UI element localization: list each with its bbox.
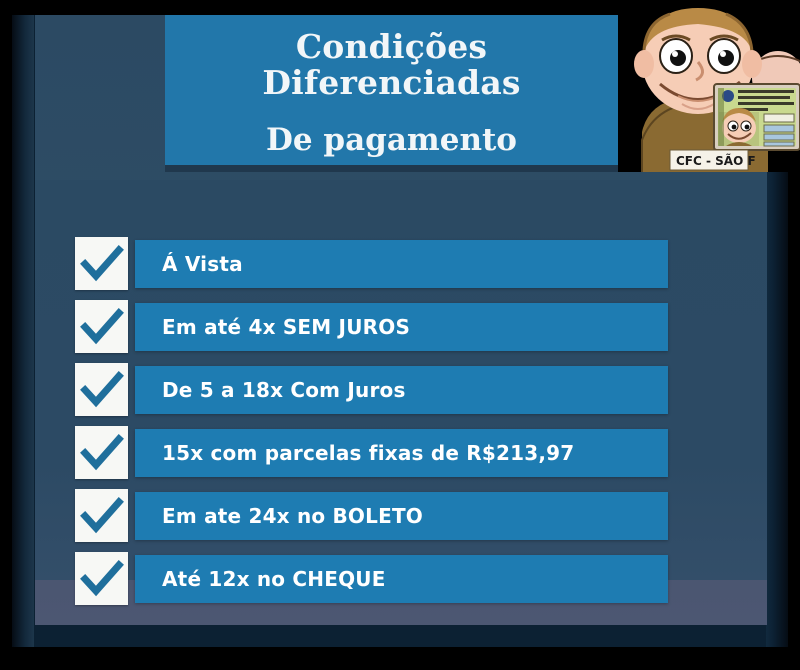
checkbox-checked[interactable] bbox=[75, 300, 128, 353]
checklist: Á Vista Em até 4x SEM JUROS De 5 a 18x C… bbox=[75, 237, 668, 615]
list-item-label: Á Vista bbox=[135, 252, 243, 276]
drivers-license-card bbox=[714, 84, 800, 150]
list-item-bar[interactable]: Em até 4x SEM JUROS bbox=[135, 303, 668, 351]
checkbox-checked[interactable] bbox=[75, 552, 128, 605]
list-item[interactable]: Em até 4x SEM JUROS bbox=[75, 300, 668, 353]
list-item-label: Em ate 24x no BOLETO bbox=[135, 504, 423, 528]
shirt-name-tag: CFC - SÃO F bbox=[670, 150, 756, 170]
license-portrait bbox=[719, 108, 759, 146]
list-item[interactable]: Á Vista bbox=[75, 237, 668, 290]
list-item-bar[interactable]: De 5 a 18x Com Juros bbox=[135, 366, 668, 414]
title-box: Condições Diferenciadas De pagamento bbox=[165, 15, 618, 165]
check-icon bbox=[75, 300, 128, 353]
list-item[interactable]: 15x com parcelas fixas de R$213,97 bbox=[75, 426, 668, 479]
list-item-label: 15x com parcelas fixas de R$213,97 bbox=[135, 441, 574, 465]
title-box-shadow bbox=[165, 165, 618, 172]
list-item-bar[interactable]: Até 12x no CHEQUE bbox=[135, 555, 668, 603]
checkbox-checked[interactable] bbox=[75, 426, 128, 479]
stage-left-edge bbox=[12, 15, 34, 647]
page-title-line-1: Condições Diferenciadas bbox=[165, 29, 618, 102]
shirt-label-text: CFC - SÃO F bbox=[676, 153, 756, 168]
check-icon bbox=[75, 426, 128, 479]
checkbox-checked[interactable] bbox=[75, 489, 128, 542]
list-item-label: De 5 a 18x Com Juros bbox=[135, 378, 406, 402]
list-item-bar[interactable]: Á Vista bbox=[135, 240, 668, 288]
slide-canvas: Condições Diferenciadas De pagamento bbox=[0, 0, 800, 670]
mascot-photo: CFC - SÃO F bbox=[618, 0, 800, 172]
check-icon bbox=[75, 552, 128, 605]
check-icon bbox=[75, 363, 128, 416]
list-item-label: Até 12x no CHEQUE bbox=[135, 567, 386, 591]
check-icon bbox=[75, 237, 128, 290]
checkbox-checked[interactable] bbox=[75, 363, 128, 416]
list-item[interactable]: Até 12x no CHEQUE bbox=[75, 552, 668, 605]
page-title-line-2: De pagamento bbox=[266, 123, 517, 157]
list-item-bar[interactable]: Em ate 24x no BOLETO bbox=[135, 492, 668, 540]
list-item[interactable]: De 5 a 18x Com Juros bbox=[75, 363, 668, 416]
mascot-illustration: CFC - SÃO F bbox=[618, 0, 800, 172]
list-item-bar[interactable]: 15x com parcelas fixas de R$213,97 bbox=[135, 429, 668, 477]
list-item[interactable]: Em ate 24x no BOLETO bbox=[75, 489, 668, 542]
list-item-label: Em até 4x SEM JUROS bbox=[135, 315, 410, 339]
checkbox-checked[interactable] bbox=[75, 237, 128, 290]
check-icon bbox=[75, 489, 128, 542]
